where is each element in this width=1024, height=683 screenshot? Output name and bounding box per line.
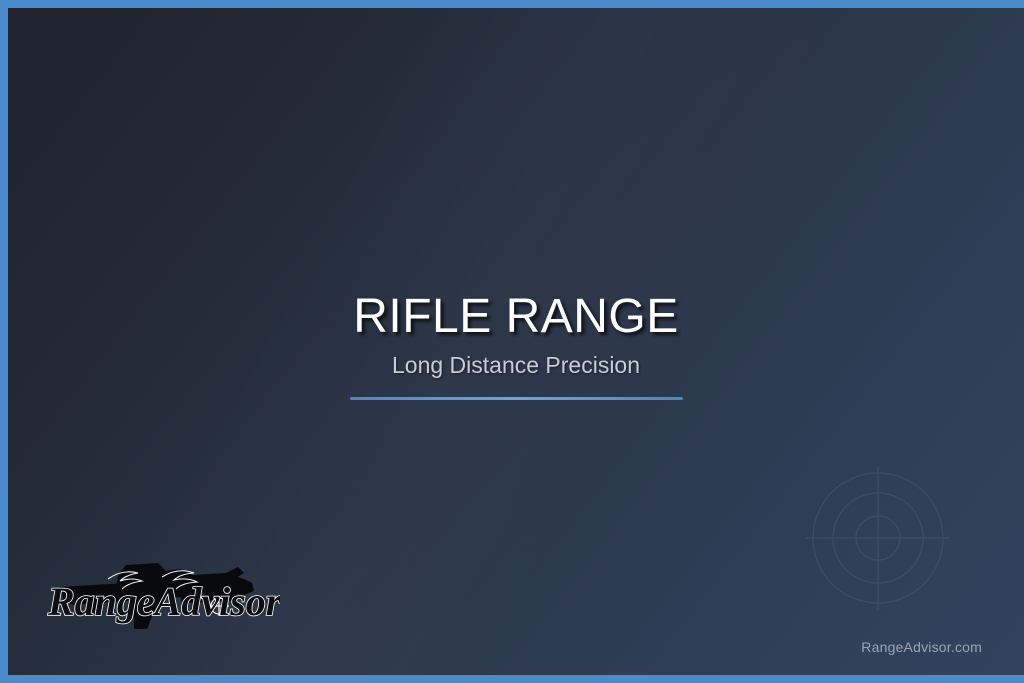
brand-logo: RangeAdvisor	[30, 549, 280, 633]
page-title: RIFLE RANGE	[8, 292, 1024, 342]
crosshair-target-icon	[798, 458, 958, 618]
page-subtitle: Long Distance Precision	[8, 352, 1024, 380]
brand-wordmark: RangeAdvisor	[47, 579, 280, 624]
title-block: RIFLE RANGE Long Distance Precision	[8, 292, 1024, 400]
footer-website-url: RangeAdvisor.com	[861, 639, 982, 655]
title-divider	[350, 397, 683, 400]
presentation-slide: RIFLE RANGE Long Distance Precision	[0, 0, 1024, 683]
